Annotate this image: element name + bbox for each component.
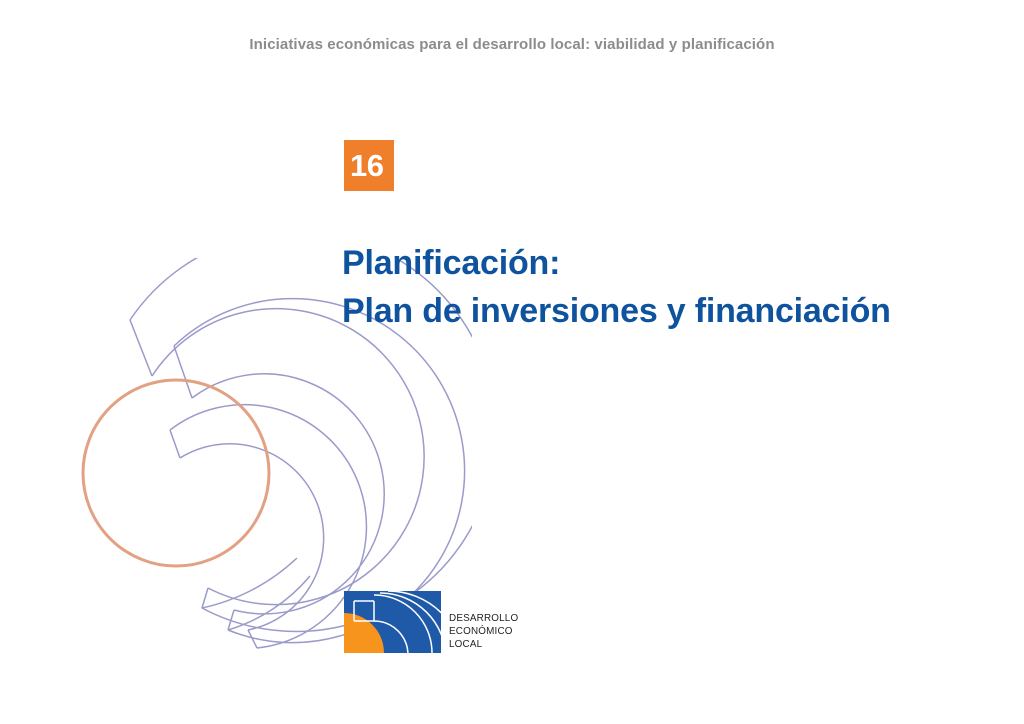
running-header: Iniciativas económicas para el desarroll… bbox=[0, 36, 1024, 53]
logo-word-line-2: ECONÓMICO bbox=[449, 625, 518, 638]
orange-circle-outline bbox=[83, 380, 269, 566]
arc-outer-inner-edge bbox=[152, 309, 424, 605]
arc-outer-cap-start bbox=[130, 320, 152, 376]
slide-canvas: Iniciativas económicas para el desarroll… bbox=[0, 0, 1024, 724]
arc-third-cap-end bbox=[248, 630, 257, 648]
logo-word-line-3: LOCAL bbox=[449, 638, 518, 651]
arc-second-inner-edge bbox=[192, 374, 384, 614]
chapter-number: 16 bbox=[344, 150, 383, 181]
arc-tail-outer bbox=[202, 558, 297, 608]
page-title-line-1: Planificación: bbox=[342, 239, 982, 287]
logo-word-line-1: DESARROLLO bbox=[449, 612, 518, 625]
arc-second-cap-start bbox=[174, 346, 192, 398]
arc-second-cap-end bbox=[228, 610, 234, 630]
arc-third-inner-edge bbox=[180, 444, 324, 630]
logo-mark-svg bbox=[344, 591, 441, 653]
organization-logo: DESARROLLO ECONÓMICO LOCAL bbox=[344, 583, 534, 653]
chapter-number-badge: 16 bbox=[344, 140, 394, 191]
page-title-line-2: Plan de inversiones y financiación bbox=[342, 287, 982, 335]
arc-outer-cap-end bbox=[202, 588, 208, 608]
arc-third-cap-start bbox=[170, 430, 180, 458]
page-title: Planificación: Plan de inversiones y fin… bbox=[342, 239, 982, 336]
arc-tail-second bbox=[228, 576, 310, 630]
arc-third bbox=[170, 405, 366, 648]
desarrollo-economico-local-logo-icon bbox=[344, 591, 441, 653]
logo-wordmark: DESARROLLO ECONÓMICO LOCAL bbox=[449, 612, 518, 651]
